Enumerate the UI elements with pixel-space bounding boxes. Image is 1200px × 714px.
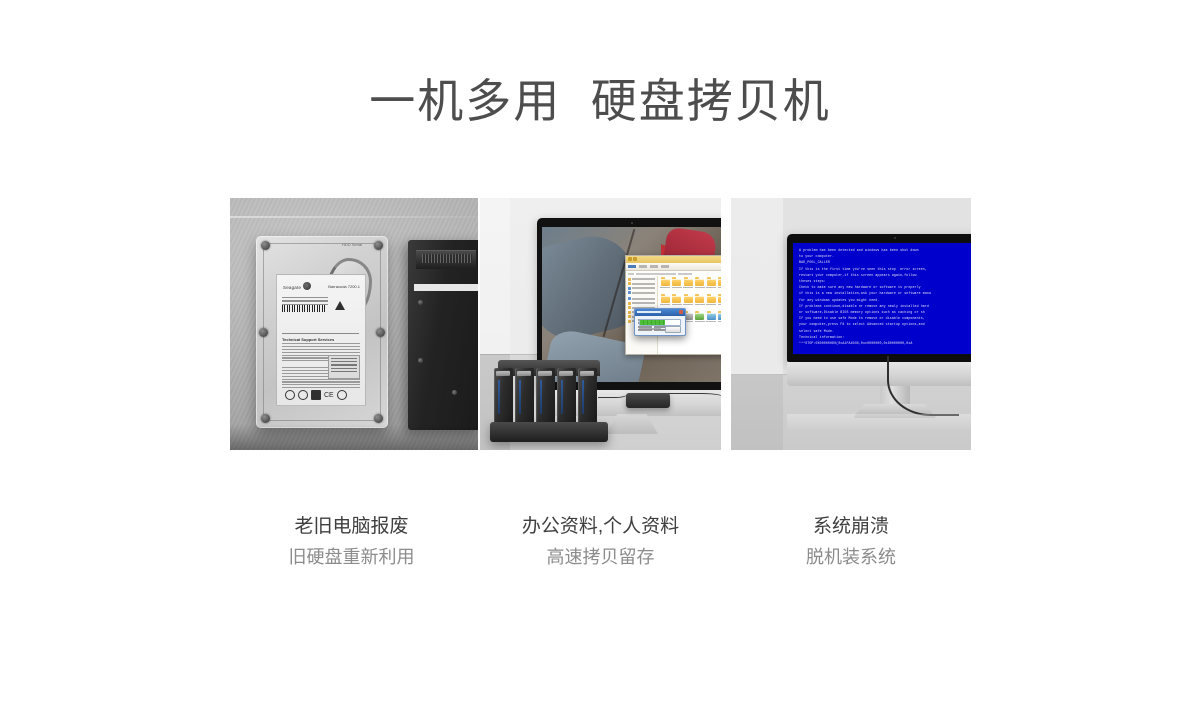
- power-adapter: [626, 393, 670, 408]
- close-icon[interactable]: [679, 310, 683, 314]
- nav-item[interactable]: [628, 291, 655, 294]
- explorer-app-icon: [633, 257, 637, 261]
- file-explorer-window[interactable]: [625, 255, 721, 355]
- label-divider: [282, 333, 359, 334]
- search-box[interactable]: [678, 273, 692, 276]
- seagate-logo-icon: [303, 282, 311, 290]
- file-item[interactable]: [718, 313, 721, 329]
- dialog-title-text: [637, 311, 661, 314]
- nav-item[interactable]: [628, 282, 655, 285]
- folder-item[interactable]: [660, 279, 671, 295]
- bsod-line: Technical information:: [799, 335, 971, 340]
- drive-screw: [259, 328, 268, 337]
- drive-label: Seagate Barracuda 7200.1 Technical Suppo…: [276, 274, 366, 406]
- case-connector-pins: [422, 254, 472, 263]
- folder-item[interactable]: [683, 279, 694, 295]
- bsod-line: If this is the first time you've seen th…: [799, 267, 971, 272]
- surface-highlight: [230, 216, 478, 218]
- dock-bay: [557, 368, 576, 426]
- copy-progress-bar: [639, 319, 681, 326]
- feature-caption-old-computer-scrap: 老旧电脑报废 旧硬盘重新利用: [230, 512, 473, 572]
- feature-caption-system-crash: 系统崩溃 脱机装系统: [731, 512, 971, 572]
- wall-left: [731, 198, 783, 450]
- drive-label-section-title: Technical Support Services: [282, 337, 334, 342]
- copy-progress-dialog[interactable]: [634, 308, 686, 336]
- file-item[interactable]: [706, 313, 717, 329]
- bsod-line: A problem has been detected and windows …: [799, 248, 971, 253]
- caption-subtitle: 脱机装系统: [731, 542, 971, 572]
- cancel-button[interactable]: [665, 326, 681, 333]
- dialog-footer: [639, 326, 681, 333]
- drive-label-table: [328, 355, 360, 379]
- file-item[interactable]: [695, 313, 706, 329]
- feature-image-office-personal-data: [480, 198, 721, 450]
- feature-caption-office-personal-data: 办公资料,个人资料 高速拷贝留存: [480, 512, 721, 572]
- caption-title: 老旧电脑报废: [230, 512, 473, 542]
- caption-subtitle: 高速拷贝留存: [480, 542, 721, 572]
- dock-cable: [598, 387, 628, 398]
- recycle-mark-icon: [337, 390, 347, 400]
- drive-brand-text: Seagate: [283, 285, 301, 290]
- case-screw: [418, 358, 423, 363]
- folder-item[interactable]: [695, 279, 706, 295]
- explorer-ribbon-tabs[interactable]: [626, 263, 721, 271]
- hard-disk-drive: HDD Serial Seagate Barracuda 7200.1 Tech…: [256, 236, 388, 428]
- bsod-line: your computer,press F8 to select Advance…: [799, 322, 971, 327]
- rohs-mark-icon: [311, 390, 321, 400]
- ribbon-tab[interactable]: [661, 265, 669, 268]
- folder-item[interactable]: [718, 296, 721, 312]
- certification-marks: CE: [285, 390, 347, 400]
- photo-bottom-shadow: [230, 424, 478, 450]
- desk-reflection: [787, 414, 971, 432]
- hard-drive-duplicator-dock: [490, 360, 608, 442]
- page-title: 一机多用 硬盘拷贝机: [0, 72, 1200, 130]
- nav-item[interactable]: [628, 287, 655, 290]
- back-icon[interactable]: [628, 273, 634, 276]
- case-screw: [418, 300, 423, 305]
- dialog-status-text: [639, 328, 661, 330]
- bsod-line: select safe Mode.: [799, 329, 971, 334]
- ribbon-tab[interactable]: [650, 265, 658, 268]
- warning-triangle-icon: [335, 301, 345, 310]
- caption-title: 系统崩溃: [731, 512, 971, 542]
- bsod-line: to your computer.: [799, 254, 971, 259]
- folder-item[interactable]: [695, 296, 706, 312]
- nav-item[interactable]: [628, 302, 655, 305]
- dock-bay: [515, 368, 534, 426]
- folder-item[interactable]: [706, 279, 717, 295]
- ribbon-tab[interactable]: [628, 265, 636, 268]
- drive-screw: [376, 328, 385, 337]
- folder-item[interactable]: [706, 296, 717, 312]
- bsod-line: theses steps:: [799, 279, 971, 284]
- nav-item[interactable]: [628, 278, 655, 281]
- monitor-stand: [606, 414, 658, 434]
- tuv-mark-icon: [298, 390, 308, 400]
- dialog-title-bar[interactable]: [635, 309, 685, 316]
- drive-screw: [261, 241, 270, 250]
- barcode-icon: [282, 305, 326, 312]
- bsod-line: Check to make sure any new hardware or s…: [799, 285, 971, 290]
- blue-screen-of-death: A problem has been detected and windows …: [793, 243, 971, 354]
- address-path[interactable]: [636, 273, 676, 276]
- bsod-line: for any windows updates you might need.: [799, 298, 971, 303]
- feature-image-row: HDD Serial Seagate Barracuda 7200.1 Tech…: [230, 198, 1200, 450]
- drive-screw: [374, 241, 383, 250]
- case-screw: [452, 390, 457, 395]
- dock-bay: [536, 368, 555, 426]
- computer-case-object: [408, 240, 478, 430]
- drive-top-note: HDD Serial: [342, 242, 362, 247]
- nav-group: [628, 278, 655, 295]
- dock-bay: [494, 368, 513, 426]
- dock-base: [490, 422, 608, 442]
- ribbon-tab[interactable]: [639, 265, 647, 268]
- feature-image-system-crash: A problem has been detected and windows …: [731, 198, 971, 450]
- explorer-title-bar[interactable]: [626, 256, 721, 263]
- caption-subtitle: 旧硬盘重新利用: [230, 542, 473, 572]
- progress-fill: [640, 320, 665, 325]
- dock-bay: [578, 368, 597, 426]
- webcam-icon: [631, 222, 633, 224]
- bsod-line: If problems continue,disable or remove a…: [799, 304, 971, 309]
- bsod-stop-code: ***STOP:0X000000D0(0xA1FA4030,0xc0000000…: [799, 341, 971, 346]
- feature-caption-row: 老旧电脑报废 旧硬盘重新利用 办公资料,个人资料 高速拷贝留存 系统崩溃 脱机装…: [230, 512, 1200, 582]
- drive-model-text: Barracuda 7200.1: [328, 284, 360, 289]
- folder-item[interactable]: [718, 279, 721, 295]
- power-cable: [668, 393, 721, 404]
- bsod-line: or software,Disable BIOS memory options …: [799, 310, 971, 315]
- bsod-line: if this is a new installation,ask your h…: [799, 291, 971, 296]
- ul-mark-icon: [285, 390, 295, 400]
- bsod-error-code: BAD_POOL_CALLER: [799, 260, 971, 265]
- bsod-line: restart your computer,if this screen app…: [799, 273, 971, 278]
- drive-screw: [374, 414, 383, 423]
- bsod-line: If you need to use safe Mode to remove o…: [799, 316, 971, 321]
- feature-image-old-computer-scrap: HDD Serial Seagate Barracuda 7200.1 Tech…: [230, 198, 478, 450]
- ce-mark-icon: CE: [324, 392, 334, 399]
- nav-item[interactable]: [628, 297, 655, 300]
- caption-title: 办公资料,个人资料: [480, 512, 721, 542]
- monitor-bezel: A problem has been detected and windows …: [787, 234, 971, 362]
- monitor-screen: [542, 227, 721, 382]
- explorer-app-icon: [628, 257, 632, 261]
- folder-item[interactable]: [671, 279, 682, 295]
- webcam-icon: [894, 237, 896, 239]
- drive-screw: [261, 414, 270, 423]
- case-white-strip: [414, 284, 478, 291]
